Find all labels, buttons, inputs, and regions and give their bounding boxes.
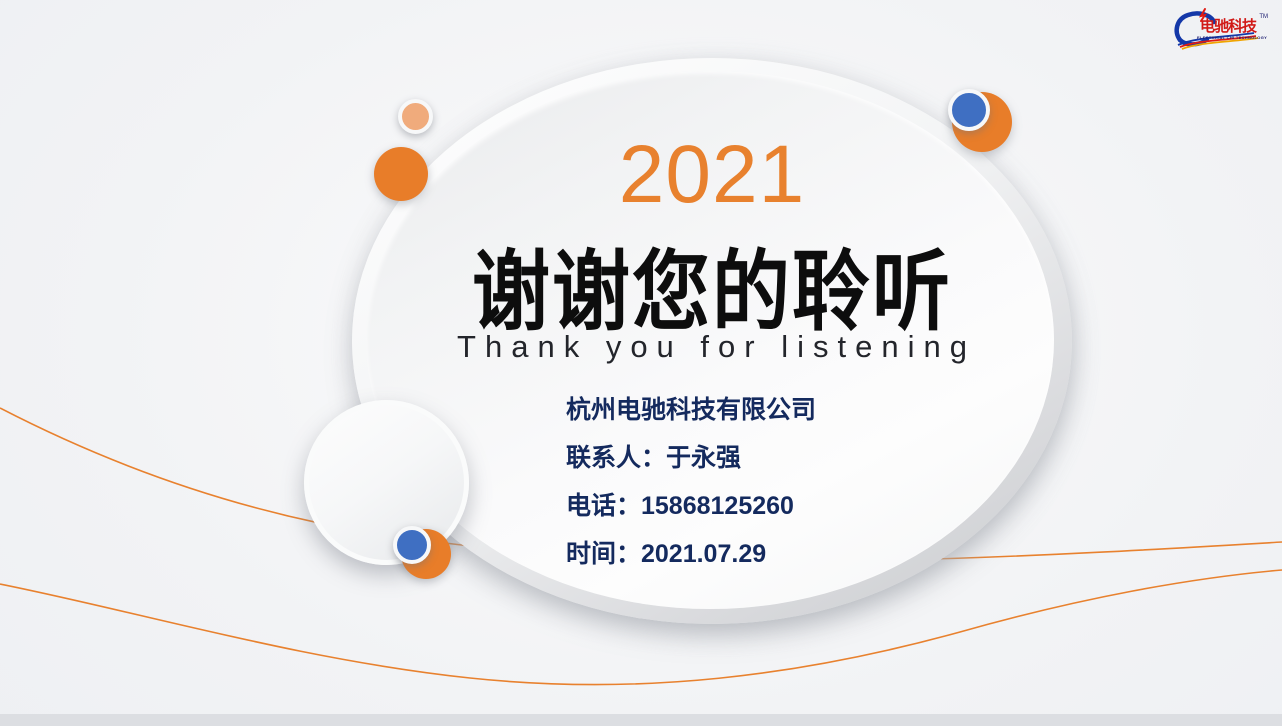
bottom-strip [0, 714, 1282, 726]
logo-company-chinese: 电驰科技 [1200, 19, 1256, 34]
company-logo: 电驰科技 ELECTRICAL CHI TECHNOLOGY TM [1170, 6, 1270, 50]
decorative-circle-blue-bottom-left [393, 526, 431, 564]
logo-trademark: TM [1259, 14, 1268, 20]
slide-canvas: 2021 谢谢您的聆听 Thank you for listening 杭州电驰… [0, 0, 1282, 726]
decorative-circle-orange-top-left [374, 147, 428, 201]
oval-face [366, 71, 1054, 609]
decorative-circle-blue-top-right [948, 89, 990, 131]
logo-company-english: ELECTRICAL CHI TECHNOLOGY [1197, 35, 1267, 40]
decorative-circle-peach [398, 99, 433, 134]
